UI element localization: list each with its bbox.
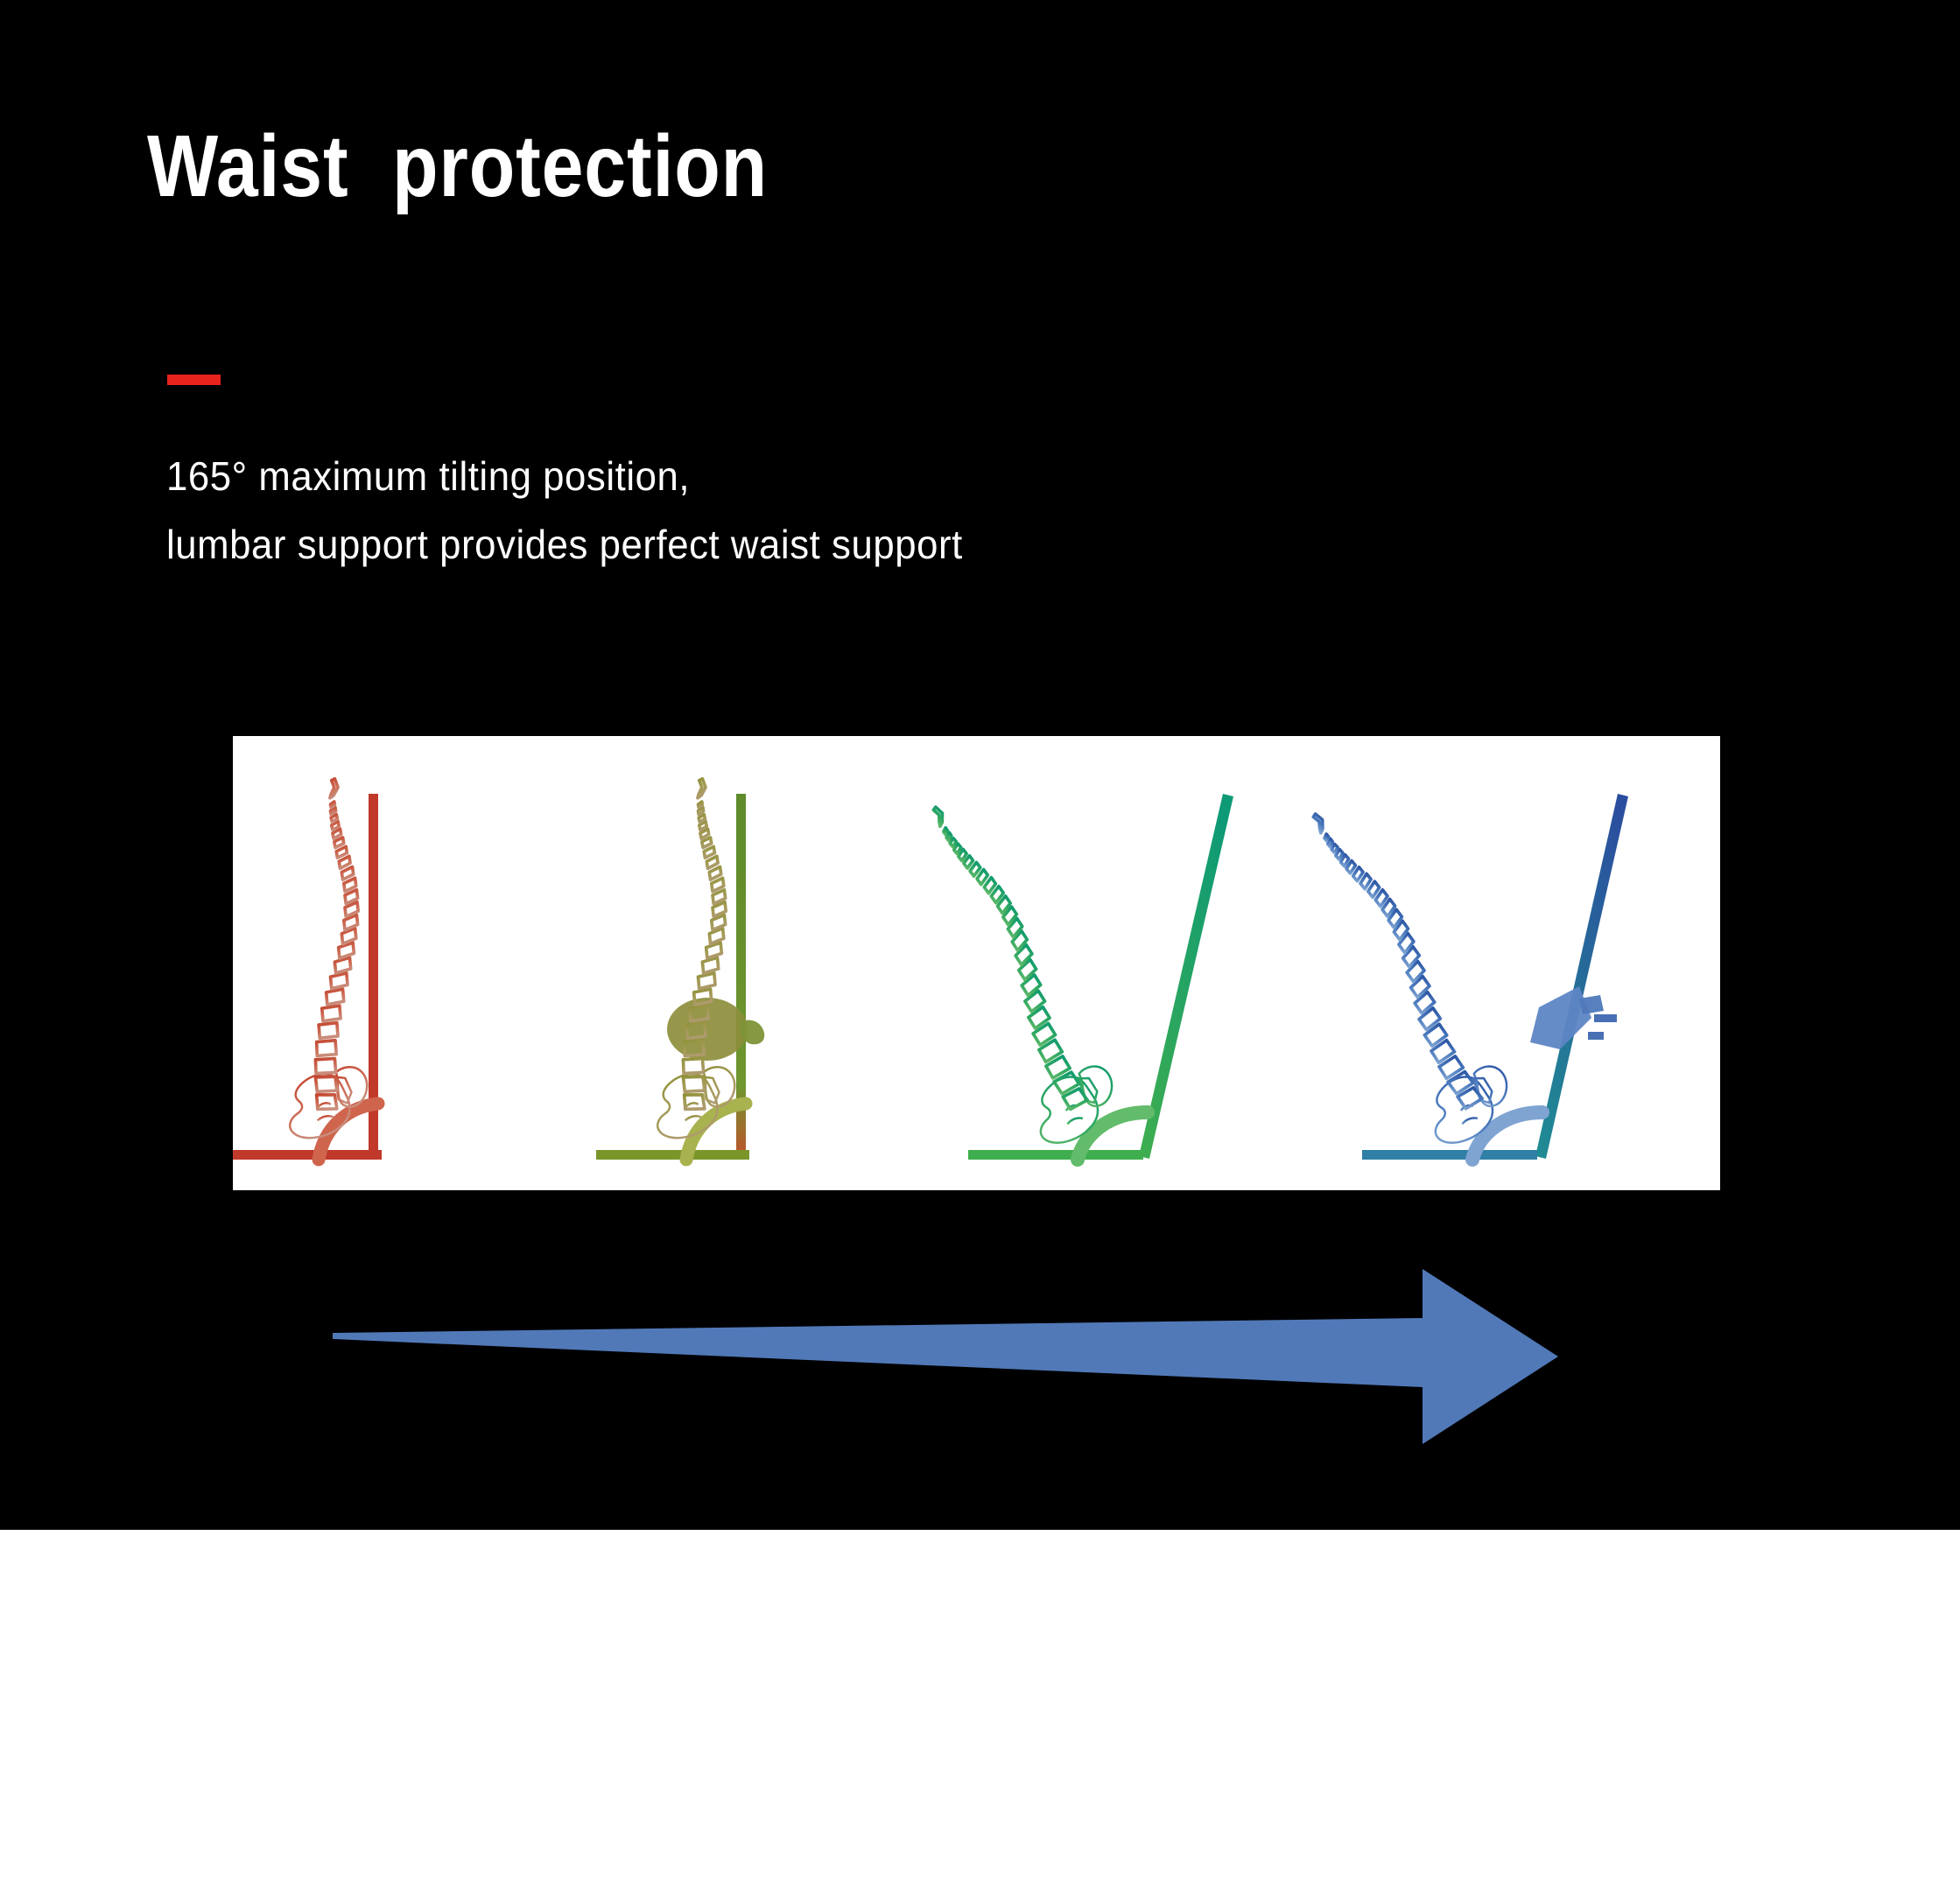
chair-seat-blue — [1362, 1150, 1537, 1160]
figure-reclined-green — [918, 794, 1233, 1160]
lumbar-support-blue — [1530, 986, 1617, 1049]
spine-posture-diagram — [233, 736, 1720, 1190]
progression-arrow-shape — [333, 1269, 1611, 1444]
slide-root: Waist protection 165° maximum tilting po… — [0, 0, 1960, 1879]
spine-blue — [1299, 803, 1501, 1110]
accent-dash — [167, 375, 221, 385]
arrow-polygon — [333, 1269, 1558, 1444]
figure-upright-olive — [596, 779, 764, 1160]
chair-seat-green — [968, 1150, 1143, 1160]
page-title: Waist protection — [147, 119, 768, 214]
chair-seat-red — [233, 1150, 382, 1160]
subtitle-text: 165° maximum tilting position, lumbar su… — [166, 442, 963, 578]
lumbar-support-olive — [667, 998, 764, 1061]
hero-section: Waist protection 165° maximum tilting po… — [0, 0, 1960, 1530]
progression-arrow — [333, 1269, 1611, 1444]
chair-seat-olive — [596, 1150, 749, 1160]
figure-upright-red — [233, 779, 382, 1160]
chair-backrest-blue — [1535, 794, 1628, 1159]
spine-green — [918, 796, 1106, 1111]
figure-reclined-blue — [1299, 794, 1628, 1160]
footer-section: FUNCTIONS AND CHRACTERSTICCS OF COMMODIT… — [0, 1530, 1960, 1879]
chair-backrest-green — [1139, 794, 1233, 1159]
illustration-panel — [233, 736, 1720, 1190]
spine-red — [315, 779, 358, 1110]
